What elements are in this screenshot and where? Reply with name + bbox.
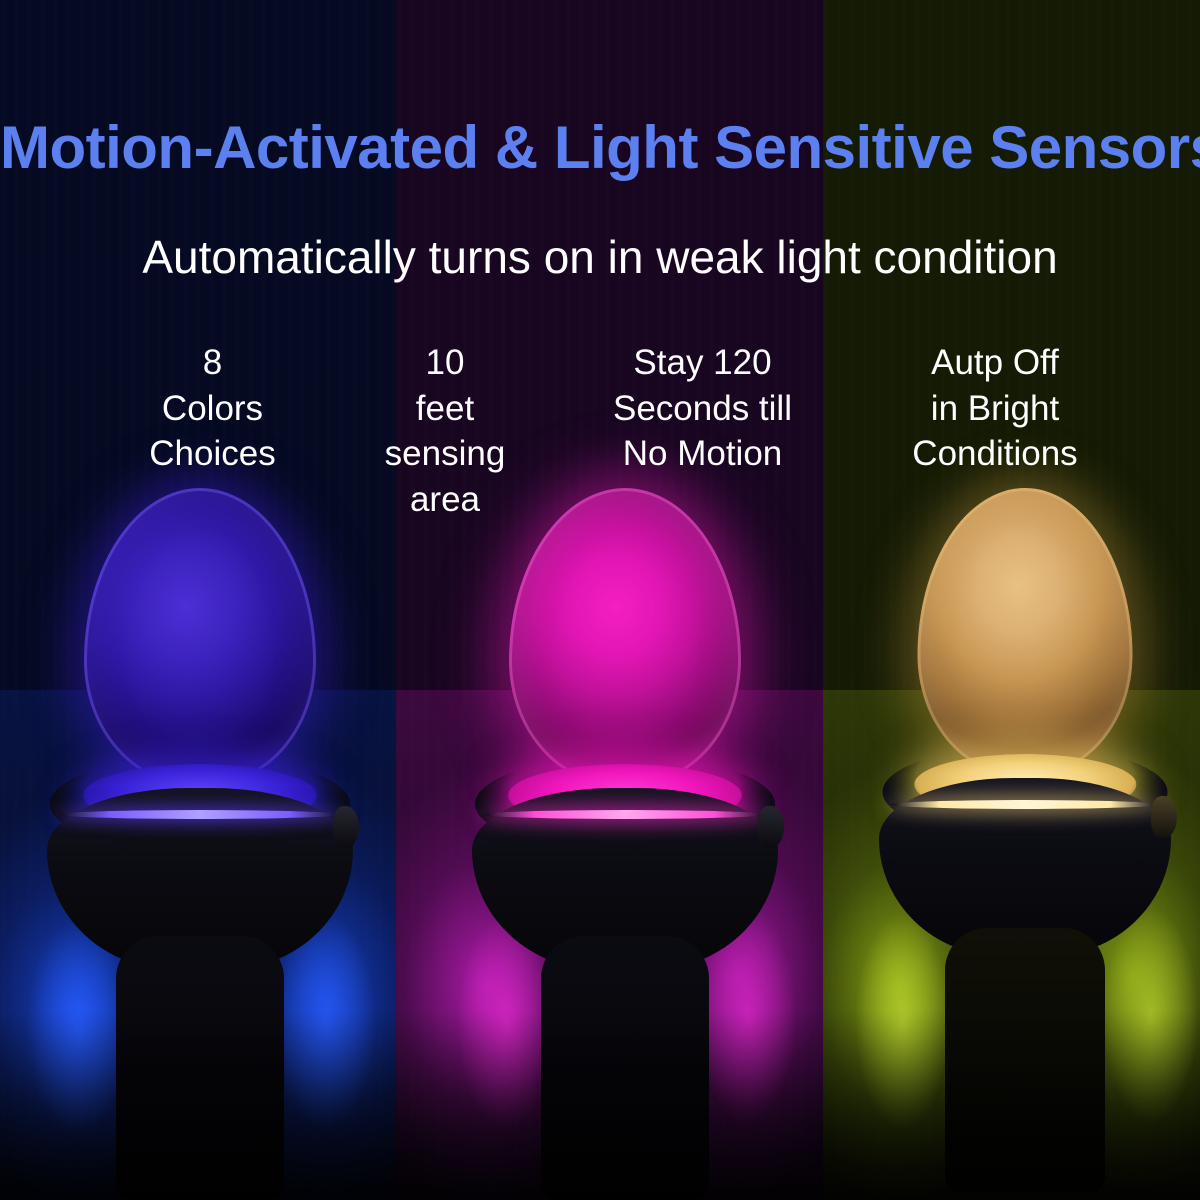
- feature-callouts: 8 Colors Choices 10 feet sensing area St…: [0, 340, 1200, 520]
- toilet-lid-amber: [918, 488, 1133, 776]
- seat-hinge: [758, 806, 784, 848]
- feature-line: feet: [330, 386, 560, 432]
- feature-auto-off: Autp Off in Bright Conditions: [850, 340, 1140, 477]
- feature-sensing-range: 10 feet sensing area: [330, 340, 560, 522]
- feature-line: Autp Off: [850, 340, 1140, 386]
- toilet-lid-blue: [84, 488, 316, 786]
- feature-line: Colors: [95, 386, 330, 432]
- feature-line: Stay 120: [560, 340, 845, 386]
- feature-line: 8: [95, 340, 330, 386]
- toilet-pedestal: [541, 936, 709, 1200]
- feature-stay-duration: Stay 120 Seconds till No Motion: [560, 340, 845, 477]
- toilet-night-light-blue: [15, 488, 385, 1200]
- toilet-lid-magenta: [509, 488, 741, 786]
- feature-line: 10: [330, 340, 560, 386]
- product-feature-poster: Motion-Activated & Light Sensitive Senso…: [0, 0, 1200, 1200]
- feature-line: in Bright: [850, 386, 1140, 432]
- lid-rim-highlight: [84, 488, 316, 786]
- feature-line: No Motion: [560, 431, 845, 477]
- toilet-pedestal: [116, 936, 284, 1200]
- toilet-night-light-amber: [855, 488, 1195, 1200]
- seat-hinge: [333, 806, 359, 848]
- subtitle: Automatically turns on in weak light con…: [0, 234, 1200, 280]
- toilet-night-light-magenta: [440, 488, 810, 1200]
- feature-colors: 8 Colors Choices: [95, 340, 330, 477]
- feature-line: Conditions: [850, 431, 1140, 477]
- bowl-rim-light: [484, 810, 766, 819]
- lid-rim-highlight: [918, 488, 1133, 776]
- seat-hinge: [1151, 796, 1177, 838]
- feature-line: Seconds till: [560, 386, 845, 432]
- headline: Motion-Activated & Light Sensitive Senso…: [0, 118, 1200, 178]
- lid-rim-highlight: [509, 488, 741, 786]
- bowl-rim-light: [59, 810, 341, 819]
- bowl-rim-light: [891, 800, 1160, 809]
- feature-line: sensing: [330, 431, 560, 477]
- toilet-pedestal: [945, 928, 1105, 1192]
- feature-line: area: [330, 477, 560, 523]
- feature-line: Choices: [95, 431, 330, 477]
